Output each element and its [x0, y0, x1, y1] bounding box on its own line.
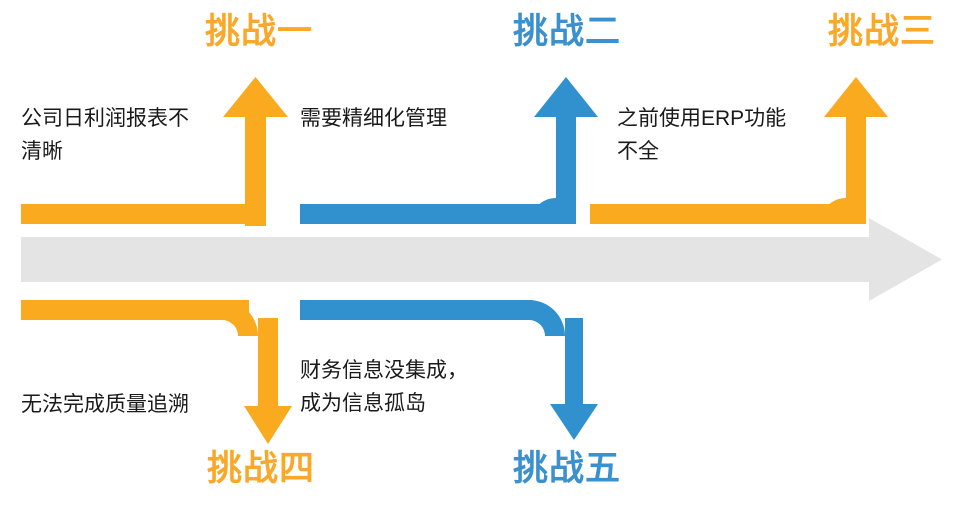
horizontal-progress-arrow [21, 218, 942, 301]
challenge-description-5: 财务信息没集成， 成为信息孤岛 [300, 355, 468, 420]
challenge-description-1: 公司日利润报表不 清晰 [21, 103, 189, 168]
challenge-description-3: 之前使用ERP功能 不全 [617, 103, 786, 168]
challenge-description-4: 无法完成质量追溯 [21, 389, 189, 422]
challenge-label-5: 挑战五 [513, 451, 621, 486]
connector-challenge-4 [21, 300, 292, 444]
challenge-label-1: 挑战一 [205, 14, 313, 49]
challenge-label-3: 挑战三 [828, 14, 936, 49]
connector-challenge-2 [300, 77, 598, 224]
diagram-canvas: 挑战一 挑战二 挑战三 挑战四 挑战五 公司日利润报表不 清晰 需要精细化管理 … [0, 0, 959, 521]
challenge-description-2: 需要精细化管理 [300, 103, 447, 136]
challenge-label-2: 挑战二 [513, 14, 621, 49]
arrow-layer [0, 0, 959, 521]
challenge-label-4: 挑战四 [207, 451, 315, 486]
